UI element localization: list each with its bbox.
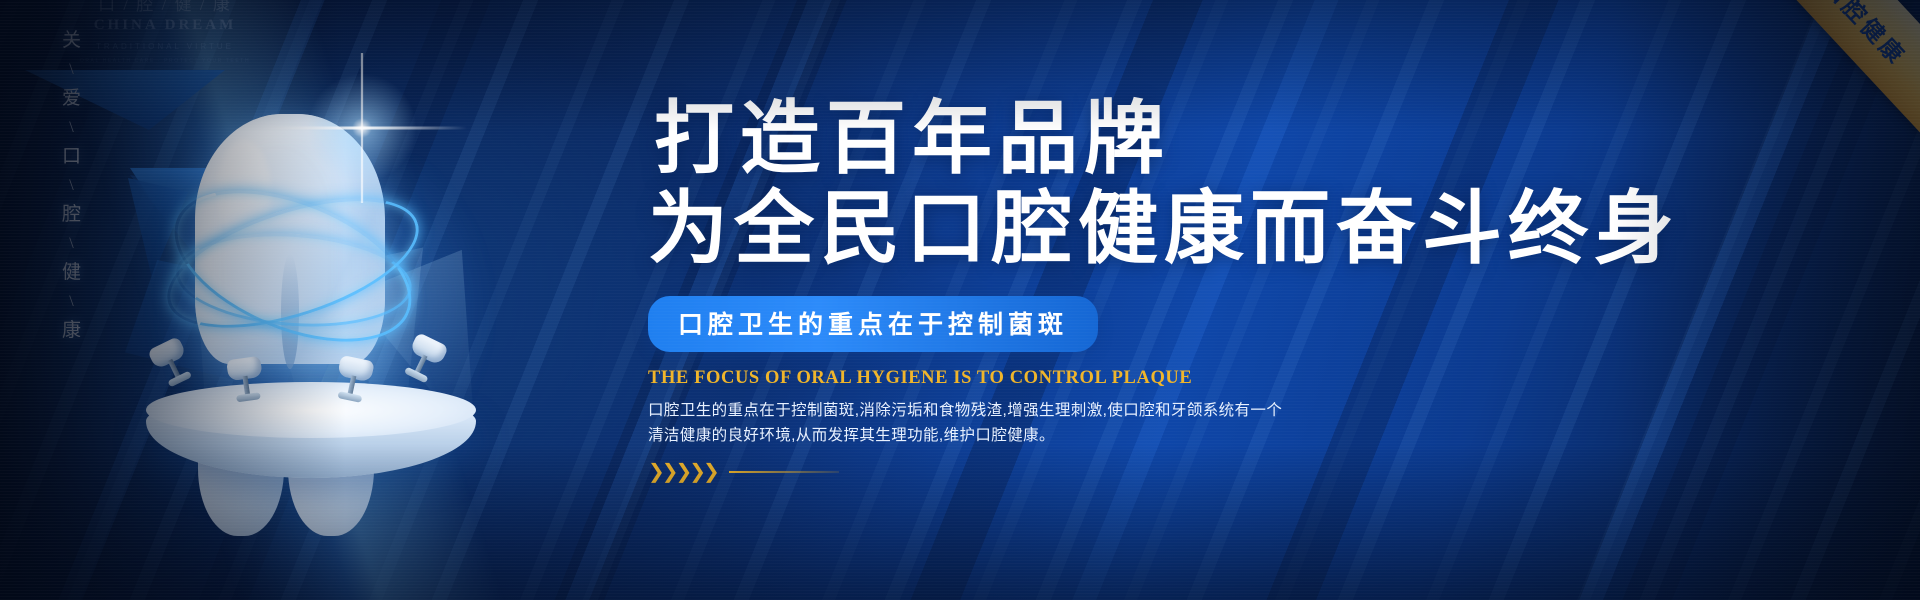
banner-canvas: 口 / 腔 / 健 / 康 CHINA DREAM TRADITIONAL VI…: [0, 0, 1920, 600]
vertical-slogan-sep-3: \: [69, 230, 74, 258]
subtitle-pill[interactable]: 口腔卫生的重点在于控制菌斑: [648, 296, 1098, 352]
english-subtitle: THE FOCUS OF ORAL HYGIENE IS TO CONTROL …: [648, 368, 1828, 389]
body-paragraph-line-1: 口腔卫生的重点在于控制菌斑,消除污垢和食物残渣,增强生理刺激,使口腔和牙颌系统有…: [648, 398, 1828, 423]
tooth-illustration: [110, 70, 530, 470]
chevrons-right-icon: ❯❯❯❯❯: [648, 462, 717, 482]
vertical-slogan-sep-2: \: [69, 172, 74, 200]
vertical-slogan-sep-1: \: [69, 114, 74, 142]
gold-rule: [729, 471, 839, 473]
vertical-slogan-sep-0: \: [69, 56, 74, 84]
vertical-slogan-sep-4: \: [69, 288, 74, 316]
podium-surface: [146, 382, 476, 438]
corner-ribbon-label: 关爱口腔健康: [1780, 0, 1915, 72]
headline: 打造百年品牌 为全民口腔健康而奋斗终身: [648, 96, 1828, 272]
content-block: 打造百年品牌 为全民口腔健康而奋斗终身 口腔卫生的重点在于控制菌斑 THE FO…: [648, 96, 1828, 482]
vertical-slogan-char-3: 腔: [62, 200, 82, 230]
arrow-marker: ❯❯❯❯❯: [648, 462, 1828, 482]
sparkle-icon: [292, 58, 432, 198]
headline-line-1: 打造百年品牌: [648, 96, 1828, 182]
vertical-slogan-char-1: 爱: [62, 84, 82, 114]
headline-line-2: 为全民口腔健康而奋斗终身: [648, 186, 1828, 272]
vertical-slogan-char-0: 关: [62, 26, 82, 56]
vertical-slogan-char-2: 口: [62, 142, 82, 172]
vertical-slogan-char-4: 健: [62, 258, 82, 288]
vertical-slogan: 关 \ 爱 \ 口 \ 腔 \ 健 \ 康: [52, 26, 92, 346]
vertical-slogan-char-5: 康: [62, 316, 82, 346]
body-paragraph: 口腔卫生的重点在于控制菌斑,消除污垢和食物残渣,增强生理刺激,使口腔和牙颌系统有…: [648, 398, 1828, 448]
spotlight-lamp-2: [226, 356, 264, 390]
watermark-cn-text: 口 / 腔 / 健 / 康: [60, 0, 270, 15]
body-paragraph-line-2: 清洁健康的良好环境,从而发挥其生理功能,维护口腔健康。: [648, 423, 1828, 448]
